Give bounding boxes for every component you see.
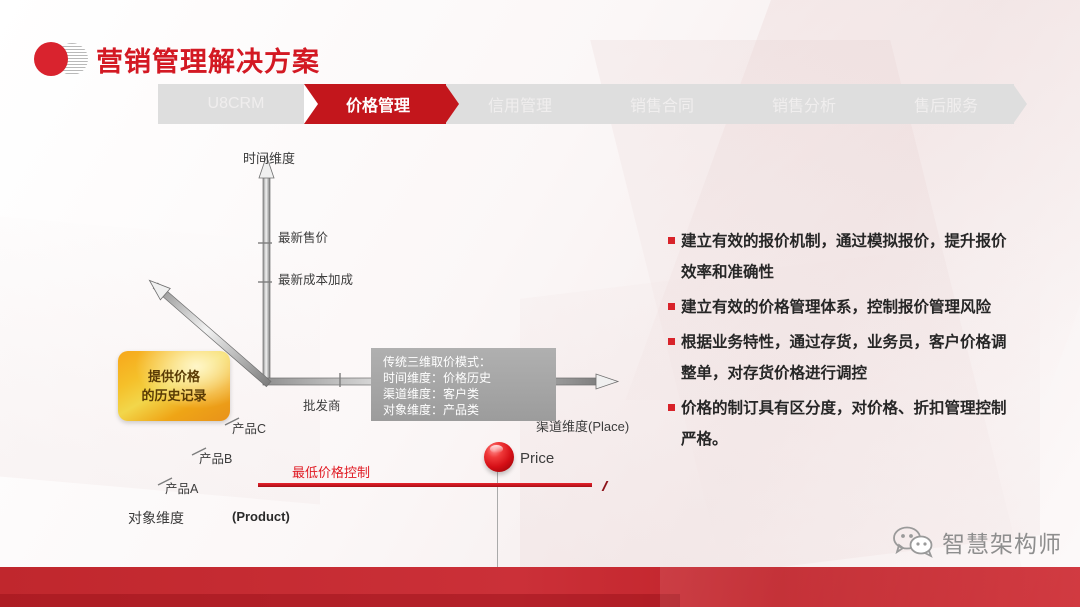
nav-item-u8crm[interactable]: U8CRM <box>158 84 304 124</box>
nav-item-label: 信用管理 <box>488 92 552 116</box>
nav-item-label: 销售分析 <box>772 92 836 116</box>
bullet-square-icon <box>668 237 675 244</box>
traditional-pricing-info-box: 传统三维取价模式： 时间维度：价格历史 渠道维度：客户类 对象维度：产品类 <box>371 348 556 421</box>
info-box-line: 对象维度：产品类 <box>383 402 556 418</box>
min-price-control-line <box>258 483 592 487</box>
logo-red-circle <box>34 42 68 76</box>
three-axis-diagram: 时间维度 渠道维度(Place) 对象维度 (Product) 最新售价 最新成… <box>0 130 660 550</box>
nav-item-label: 销售合同 <box>630 92 694 116</box>
callout-line-1: 提供价格 <box>148 367 200 386</box>
wechat-account: 智慧架构师 <box>892 525 1062 559</box>
overlapping-circles-logo-icon <box>34 42 92 76</box>
axes-svg <box>0 130 660 550</box>
list-item: 价格的制订具有区分度，对价格、折扣管理控制严格。 <box>668 393 1008 455</box>
z-axis-label: 对象维度 <box>128 508 184 528</box>
footer-bar <box>0 567 1080 607</box>
nav-item-sales-analysis[interactable]: 销售分析 <box>730 84 872 124</box>
list-item-text: 建立有效的价格管理体系，控制报价管理风险 <box>681 299 991 316</box>
list-item: 根据业务特性，通过存货，业务员，客户价格调整单，对存货价格进行调控 <box>668 327 1008 389</box>
bullet-square-icon <box>668 303 675 310</box>
nav-item-label: 售后服务 <box>914 92 978 116</box>
breadcrumb: U8CRM 价格管理 信用管理 销售合同 销售分析 售后服务 <box>158 84 1014 124</box>
info-box-line: 时间维度：价格历史 <box>383 370 556 386</box>
nav-item-price-management[interactable]: 价格管理 <box>304 84 446 124</box>
nav-item-credit-management[interactable]: 信用管理 <box>446 84 588 124</box>
z-axis-label-en: (Product) <box>232 509 290 524</box>
list-item-text: 建立有效的报价机制，通过模拟报价，提升报价效率和准确性 <box>681 233 1007 281</box>
z-tick-product-b: 产品B <box>199 448 232 467</box>
list-item: 建立有效的报价机制，通过模拟报价，提升报价效率和准确性 <box>668 226 1008 288</box>
price-sphere-marker <box>484 442 514 472</box>
callout-line-2: 的历史记录 <box>141 386 206 405</box>
z-tick-product-c: 产品C <box>232 418 266 437</box>
wechat-account-name: 智慧架构师 <box>942 525 1062 559</box>
bullet-square-icon <box>668 404 675 411</box>
y-tick-latest-price: 最新售价 <box>278 227 328 246</box>
slide-root: 营销管理解决方案 U8CRM 价格管理 信用管理 销售合同 销售分析 售后服务 <box>0 0 1080 607</box>
min-price-control-label: 最低价格控制 <box>292 462 370 481</box>
list-item-text: 价格的制订具有区分度，对价格、折扣管理控制严格。 <box>681 400 1007 448</box>
nav-item-label: 价格管理 <box>346 92 410 116</box>
z-tick-product-a: 产品A <box>165 478 198 497</box>
list-item-text: 根据业务特性，通过存货，业务员，客户价格调整单，对存货价格进行调控 <box>681 334 1007 382</box>
wechat-icon <box>892 526 934 558</box>
x-tick-wholesaler: 批发商 <box>303 395 341 414</box>
price-label: Price <box>520 450 554 467</box>
list-item: 建立有效的价格管理体系，控制报价管理风险 <box>668 292 1008 323</box>
info-box-line: 渠道维度：客户类 <box>383 386 556 402</box>
nav-item-sales-contract[interactable]: 销售合同 <box>588 84 730 124</box>
y-tick-latest-cost-markup: 最新成本加成 <box>278 269 353 288</box>
nav-item-after-sales[interactable]: 售后服务 <box>872 84 1014 124</box>
y-axis-label: 时间维度 <box>243 148 295 167</box>
nav-item-label: U8CRM <box>208 95 265 113</box>
history-record-callout: 提供价格 的历史记录 <box>118 351 230 421</box>
info-box-line: 传统三维取价模式： <box>383 354 556 370</box>
page-title: 营销管理解决方案 <box>96 40 320 79</box>
bullet-square-icon <box>668 338 675 345</box>
benefits-list: 建立有效的报价机制，通过模拟报价，提升报价效率和准确性 建立有效的价格管理体系，… <box>668 226 1008 459</box>
